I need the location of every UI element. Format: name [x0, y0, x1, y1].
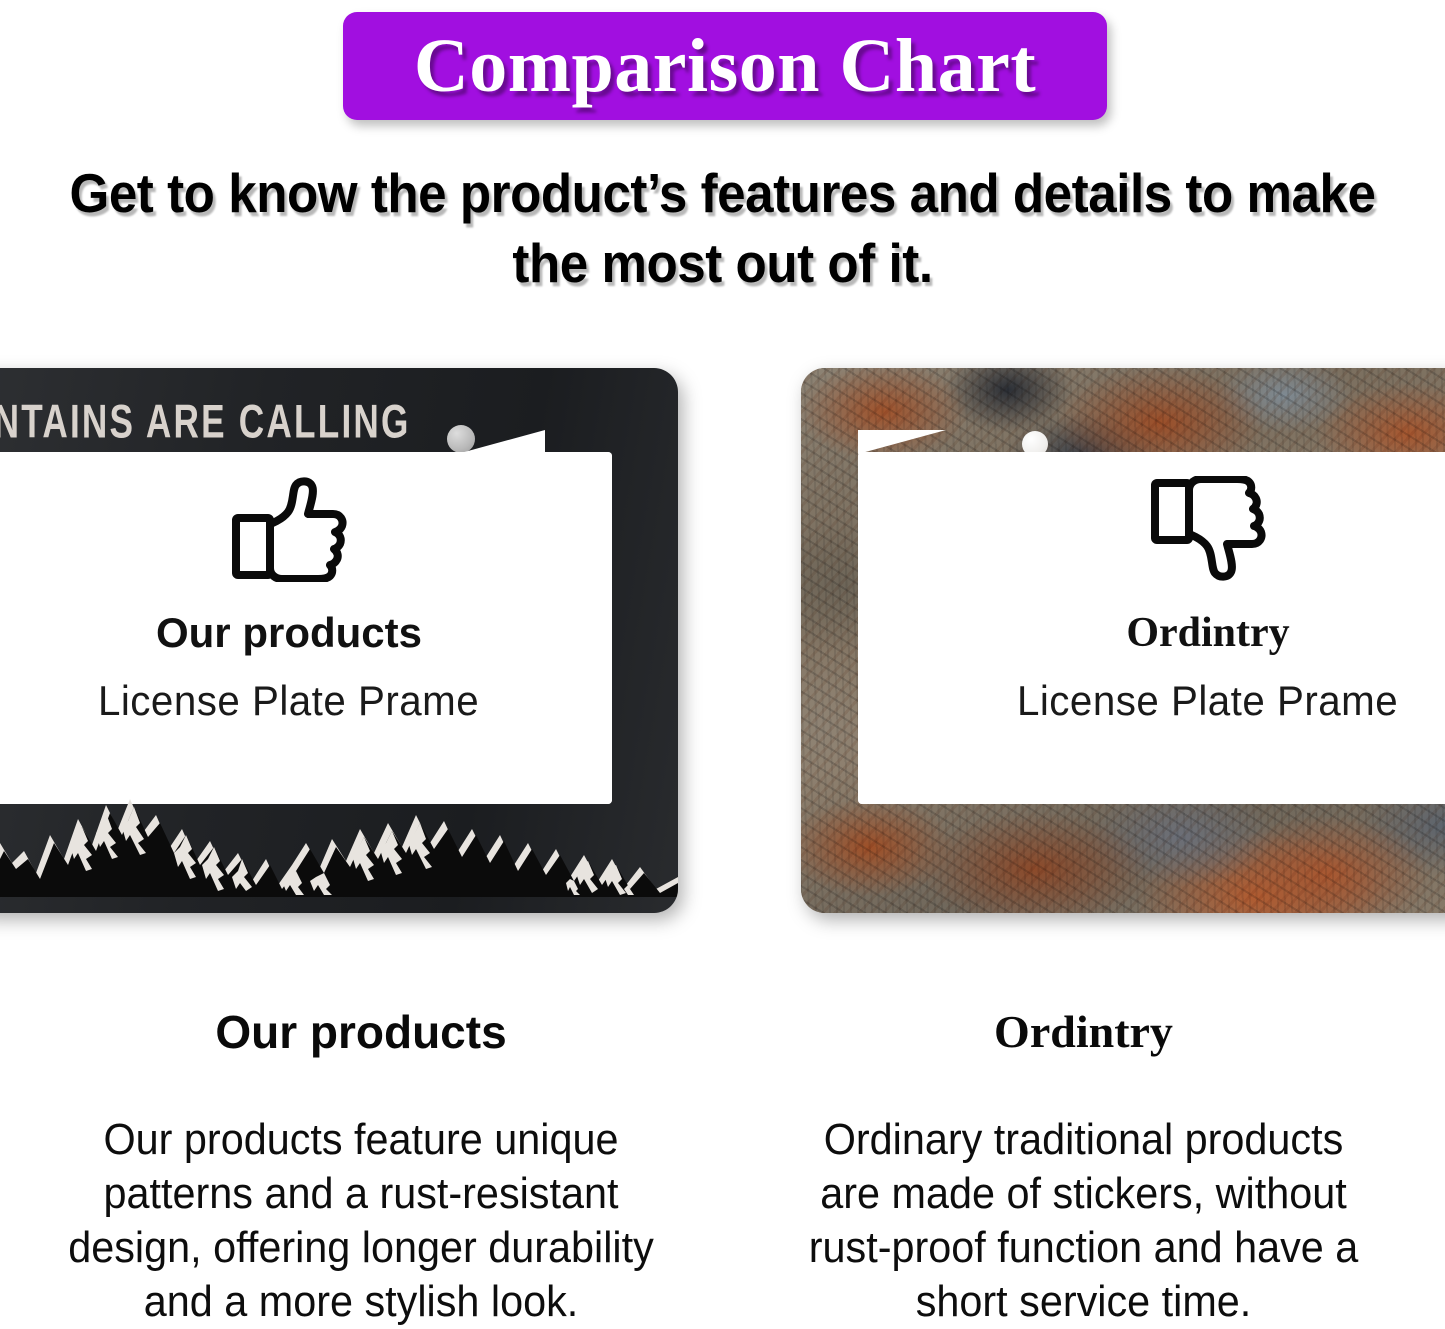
plate-heading-bad: Ordintry [1126, 609, 1289, 657]
column-heading-bad: Ordintry [770, 1005, 1397, 1059]
header: Comparison Chart Get to know the product… [0, 0, 1445, 310]
column-body-bad: Ordinary traditional products are made o… [789, 1113, 1378, 1329]
plate-window-good: Our products License Plate Prame [0, 452, 612, 804]
column-body-good: Our products feature unique patterns and… [67, 1113, 655, 1329]
plate-content-good: Our products License Plate Prame [0, 452, 612, 804]
title-banner: Comparison Chart [343, 12, 1107, 120]
comparison-frames-row: UNTAINS ARE CALLING Our products License… [0, 360, 1445, 920]
thumbs-up-icon [230, 476, 348, 587]
product-frame-bad: Ordintry License Plate Prame [801, 368, 1445, 913]
frame-chamfer [858, 430, 946, 454]
thumbs-down-icon [1149, 476, 1267, 587]
plate-window-bad: Ordintry License Plate Prame [858, 452, 1445, 804]
description-column-good: Our products Our products feature unique… [0, 985, 722, 1314]
description-column-bad: Ordintry Ordinary traditional products a… [722, 985, 1445, 1314]
plate-heading-good: Our products [156, 609, 422, 657]
page-title: Comparison Chart [414, 28, 1036, 104]
frame-chamfer [457, 430, 545, 454]
plate-content-bad: Ordintry License Plate Prame [858, 452, 1445, 804]
product-frame-good: UNTAINS ARE CALLING Our products License… [0, 368, 678, 913]
page-subtitle: Get to know the product’s features and d… [51, 158, 1395, 298]
column-heading-good: Our products [48, 1005, 674, 1059]
plate-subheading-bad: License Plate Prame [1017, 677, 1398, 725]
plate-subheading-good: License Plate Prame [98, 677, 479, 725]
description-row: Our products Our products feature unique… [0, 985, 1445, 1314]
frame-plate-slogan: UNTAINS ARE CALLING [0, 396, 380, 448]
